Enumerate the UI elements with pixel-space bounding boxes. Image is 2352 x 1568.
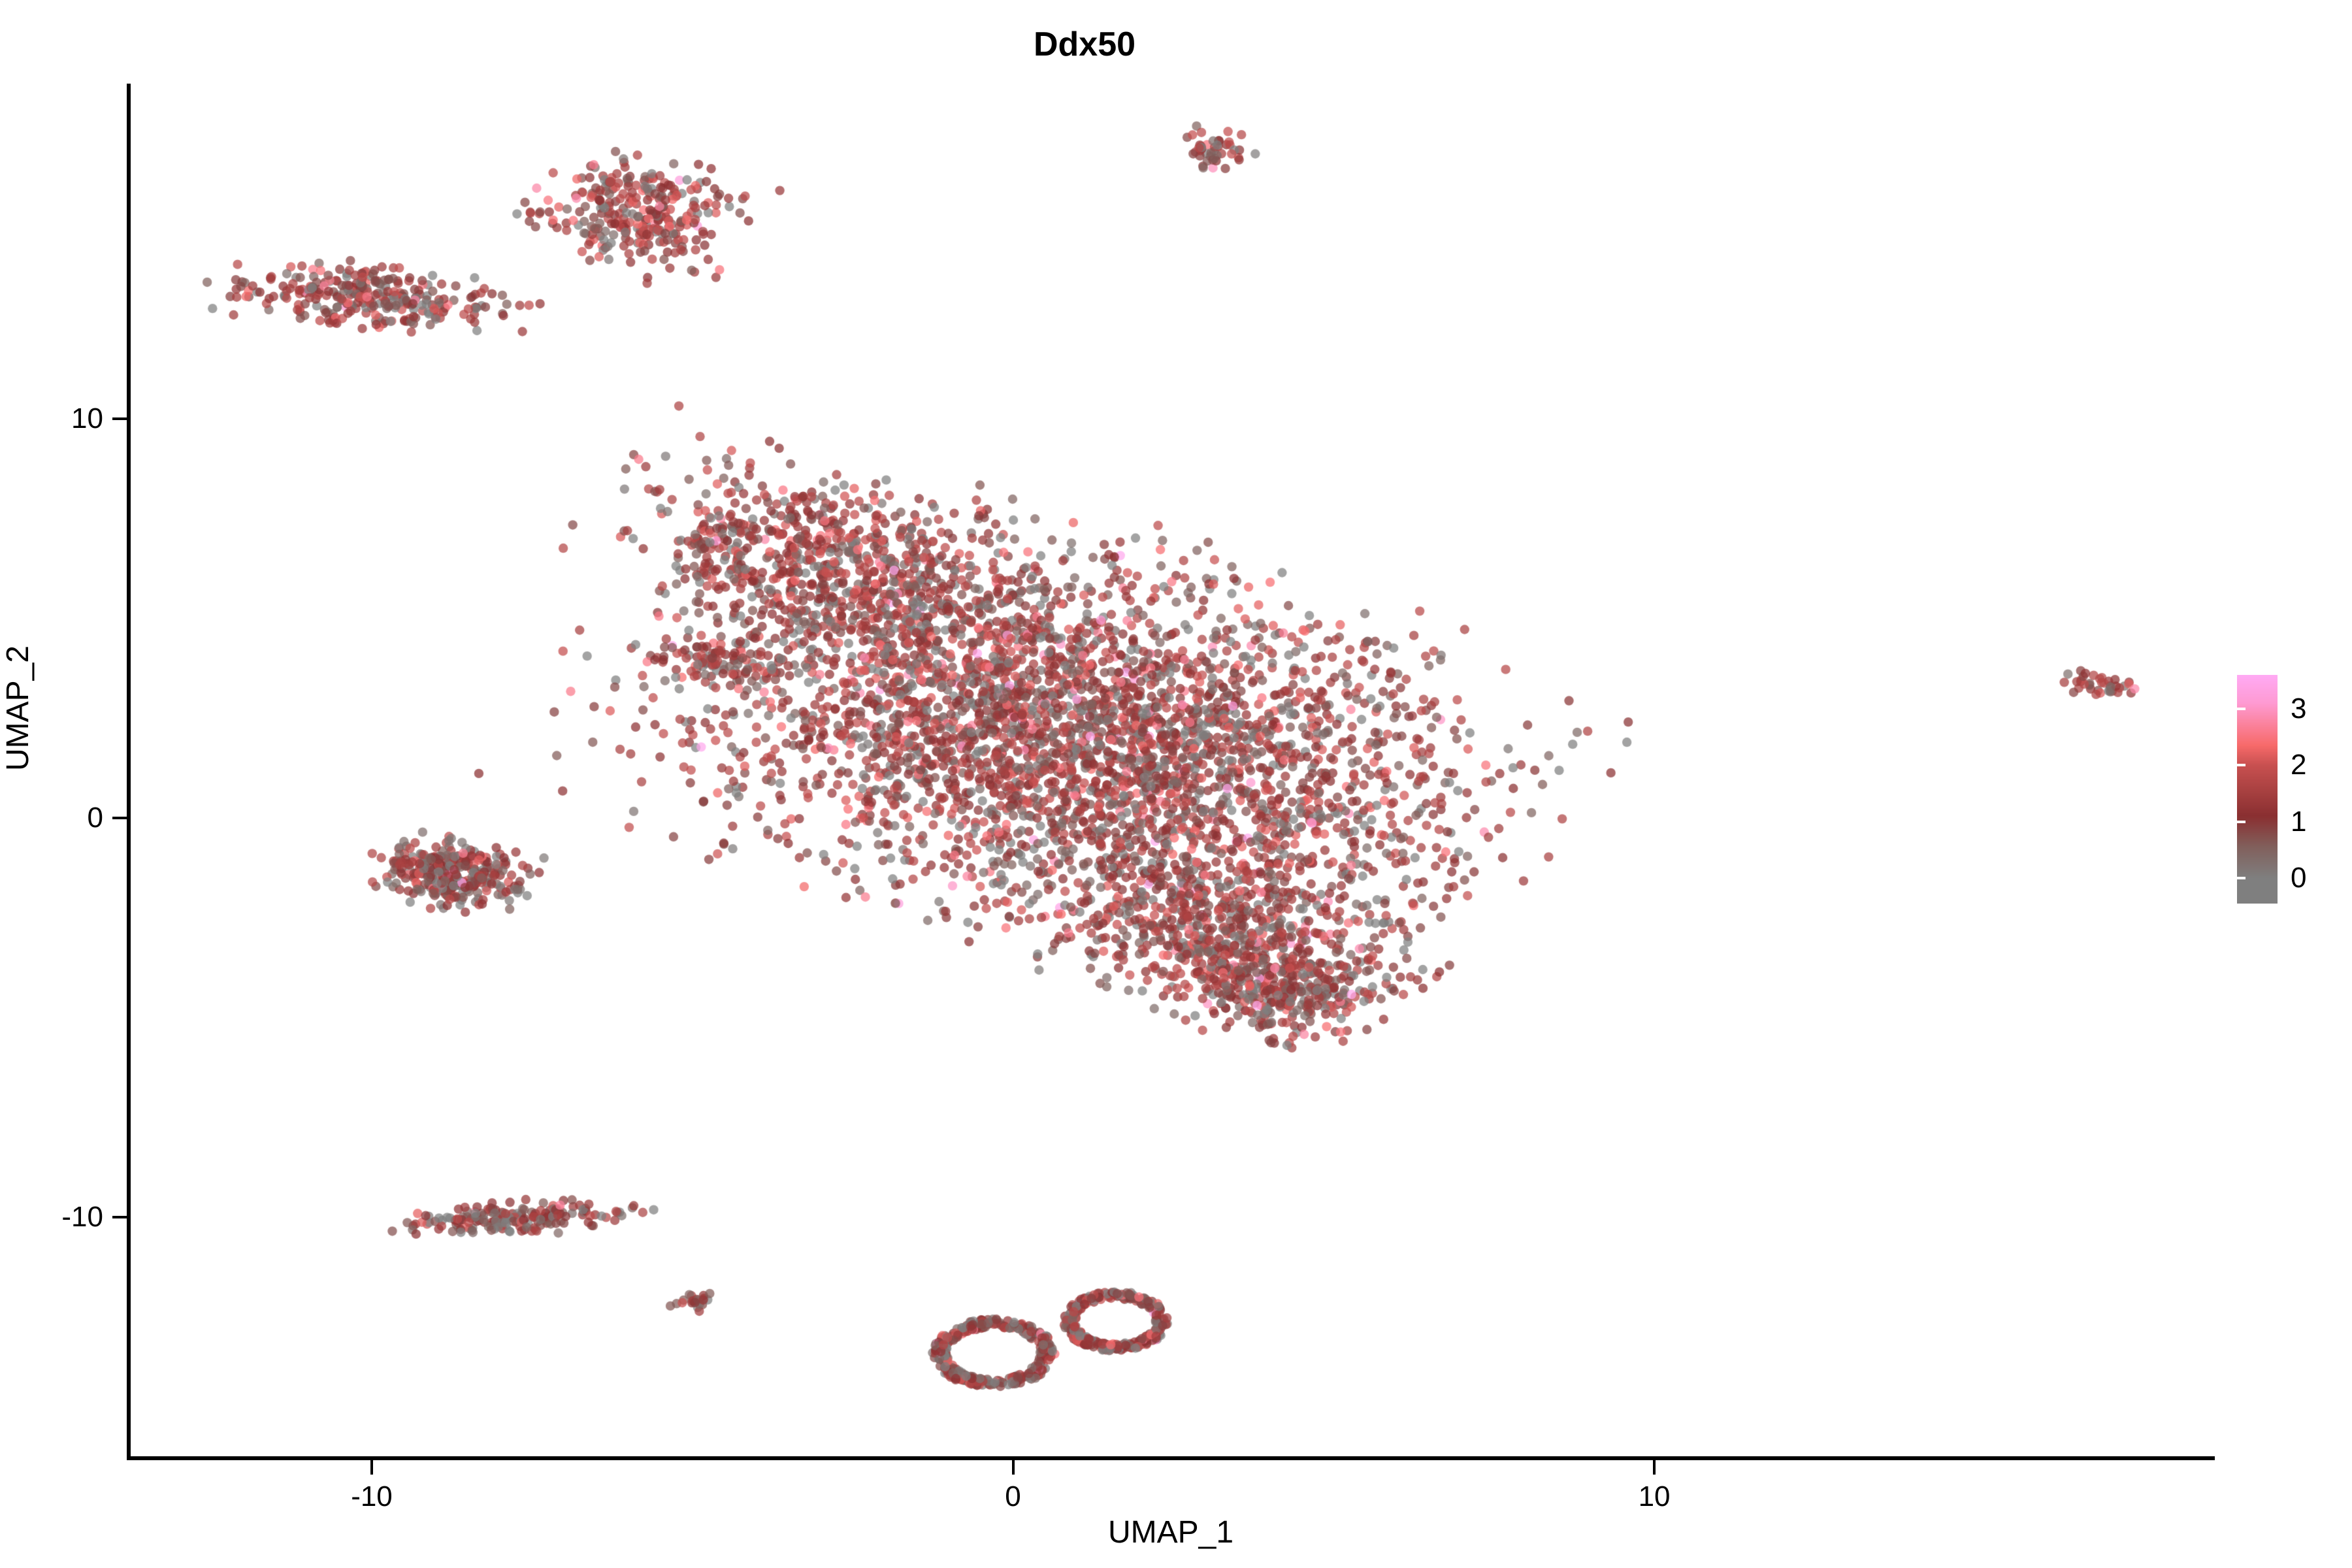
x-tick-mark xyxy=(1012,1460,1015,1475)
colorbar-tick-mark xyxy=(2333,877,2342,879)
y-axis-line xyxy=(127,84,131,1460)
colorbar-tick-mark xyxy=(2333,708,2342,710)
y-tick-label: -10 xyxy=(61,1201,103,1233)
plot-panel xyxy=(128,84,2212,1457)
x-tick-label: 10 xyxy=(1639,1480,1671,1513)
x-tick-label: 0 xyxy=(1005,1480,1021,1513)
colorbar-tick-mark xyxy=(2237,877,2246,879)
y-tick-label: 0 xyxy=(88,802,103,834)
y-tick-mark xyxy=(112,1216,127,1218)
colorbar-tick-label: 2 xyxy=(2291,749,2306,781)
colorbar-tick-mark xyxy=(2333,764,2342,766)
x-tick-mark xyxy=(370,1460,373,1475)
colorbar-tick-mark xyxy=(2237,821,2246,823)
colorbar-tick-mark xyxy=(2237,764,2246,766)
y-tick-mark xyxy=(112,417,127,420)
page-title: Ddx50 xyxy=(0,25,2169,64)
y-tick-mark xyxy=(112,817,127,819)
colorbar-tick-mark xyxy=(2333,821,2342,823)
umap-feature-plot: Ddx50 -10010 -10010 UMAP_1 UMAP_2 0123 xyxy=(0,0,2352,1568)
colorbar-tick-label: 1 xyxy=(2291,806,2306,838)
colorbar-tick-label: 3 xyxy=(2291,693,2306,725)
x-tick-label: -10 xyxy=(351,1480,393,1513)
scatter-points-layer xyxy=(128,84,2212,1457)
colorbar-tick-mark xyxy=(2237,708,2246,710)
y-axis-label: UMAP_2 xyxy=(0,645,36,771)
y-tick-label: 10 xyxy=(71,402,103,435)
colorbar-tick-label: 0 xyxy=(2291,862,2306,894)
color-legend: 0123 xyxy=(2237,675,2342,910)
x-axis-label: UMAP_1 xyxy=(127,1514,2215,1550)
x-axis-line xyxy=(127,1456,2215,1460)
x-tick-mark xyxy=(1653,1460,1656,1475)
